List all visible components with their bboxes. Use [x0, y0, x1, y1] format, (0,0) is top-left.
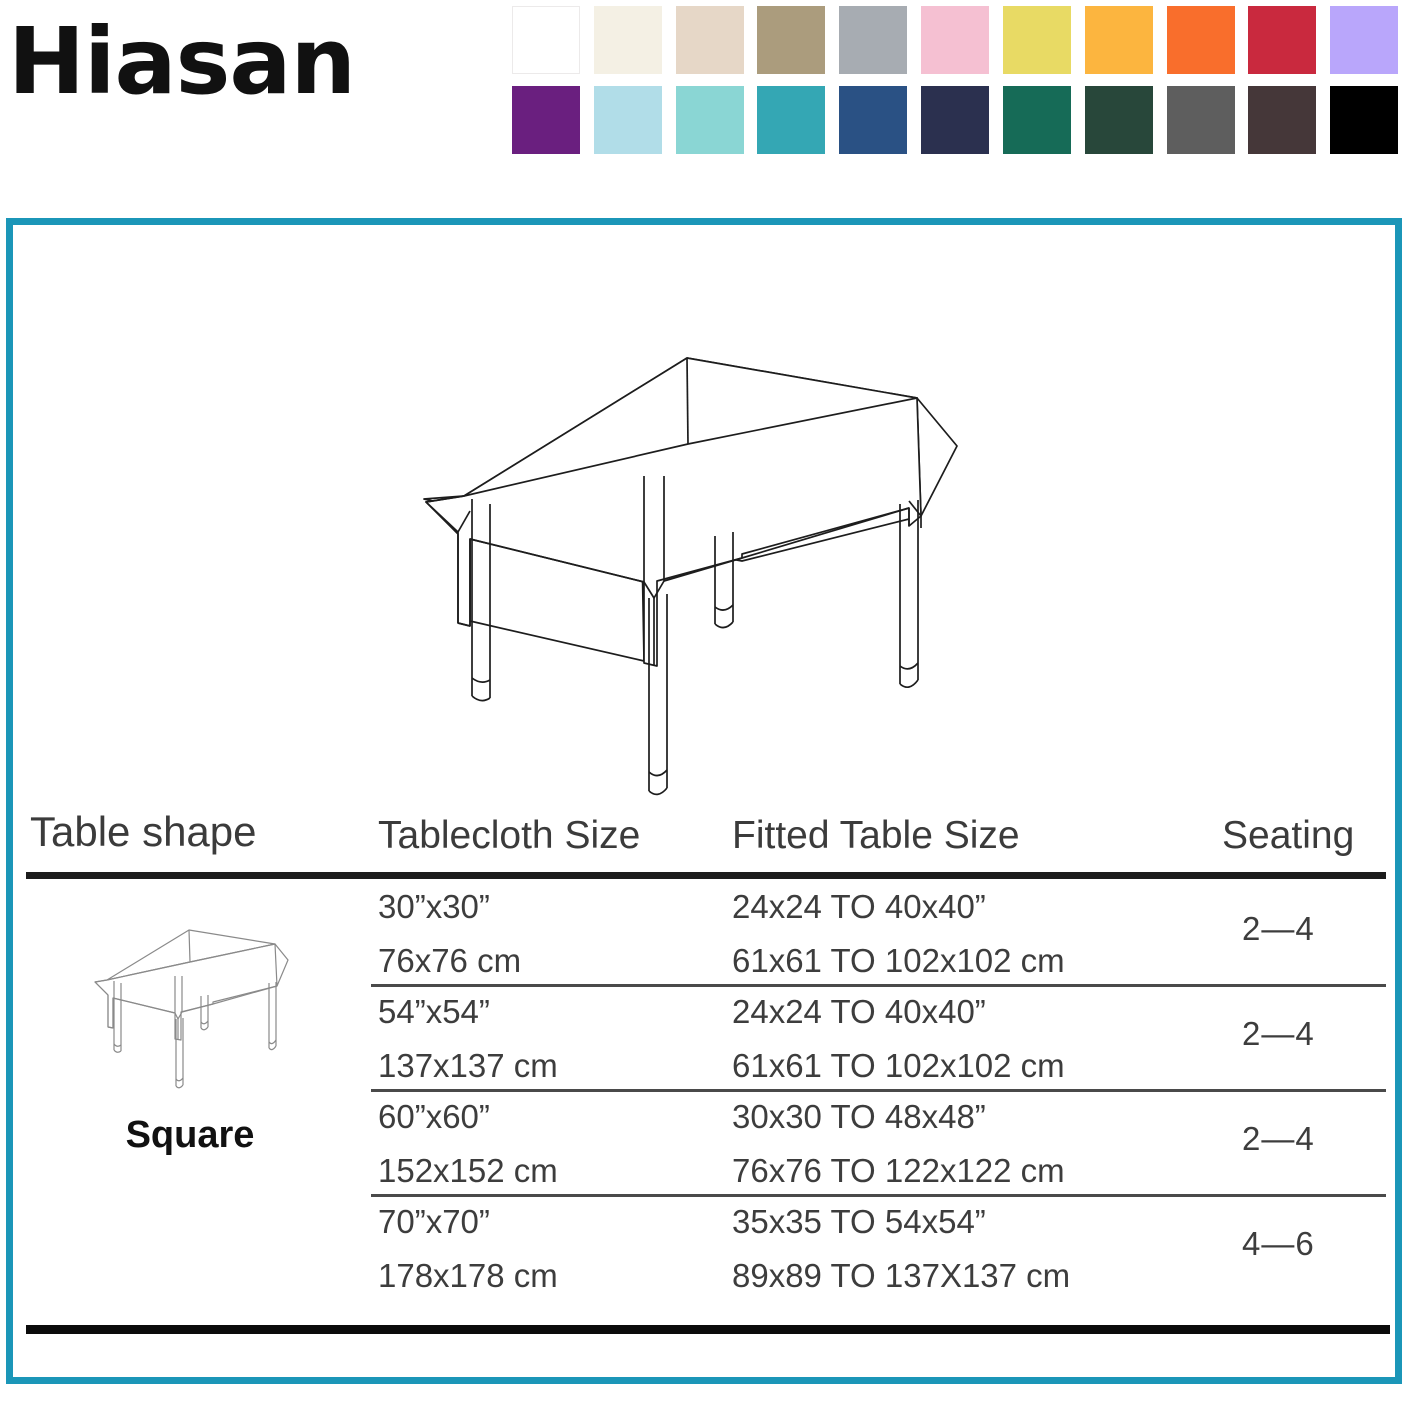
brand-logo: Hiasan — [8, 16, 355, 108]
swatch-cell[interactable] — [676, 6, 758, 86]
swatch-cell[interactable] — [921, 6, 1003, 86]
color-swatch-dark-brown[interactable] — [1248, 86, 1316, 154]
swatch-cell[interactable] — [1167, 6, 1249, 86]
swatch-cell[interactable] — [594, 6, 676, 86]
color-swatch-dark-gray[interactable] — [1167, 86, 1235, 154]
color-swatch-marigold[interactable] — [1085, 6, 1153, 74]
table-bottom-divider — [26, 1325, 1390, 1334]
swatch-cell[interactable] — [512, 86, 594, 166]
swatch-cell[interactable] — [676, 86, 758, 166]
table-row: 60”x60” 152x152 cm 30x30 TO 48x48” 76x76… — [26, 1092, 1390, 1197]
product-size-chart-page: Hiasan — [0, 0, 1416, 1402]
color-swatch-row-1 — [512, 6, 1412, 86]
swatch-cell[interactable] — [1330, 86, 1412, 166]
swatch-cell[interactable] — [1003, 6, 1085, 86]
swatch-cell[interactable] — [1248, 6, 1330, 86]
color-swatch-ivory[interactable] — [594, 6, 662, 74]
color-swatch-lavender[interactable] — [1330, 6, 1398, 74]
color-swatch-beige[interactable] — [676, 6, 744, 74]
column-header-tablecloth-size: Tablecloth Size — [378, 814, 640, 858]
color-swatch-taupe[interactable] — [757, 6, 825, 74]
swatch-cell[interactable] — [1085, 6, 1167, 86]
table-row: 70”x70” 178x178 cm 35x35 TO 54x54” 89x89… — [26, 1197, 1390, 1302]
color-swatch-white[interactable] — [512, 6, 580, 74]
color-swatch-teal[interactable] — [757, 86, 825, 154]
cell-fitted-cm: 76x76 TO 122x122 cm — [732, 1154, 1065, 1187]
swatch-cell[interactable] — [757, 86, 839, 166]
color-swatch-pink[interactable] — [921, 6, 989, 74]
cell-fitted-inches: 35x35 TO 54x54” — [732, 1205, 986, 1238]
color-swatch-aqua[interactable] — [676, 86, 744, 154]
color-swatch-yellow[interactable] — [1003, 6, 1071, 74]
cell-seating: 2—4 — [1242, 912, 1315, 945]
cell-seating: 4—6 — [1242, 1227, 1315, 1260]
swatch-cell[interactable] — [1167, 86, 1249, 166]
swatch-cell[interactable] — [1003, 86, 1085, 166]
cell-fitted-inches: 30x30 TO 48x48” — [732, 1100, 986, 1133]
color-swatch-gray[interactable] — [839, 6, 907, 74]
cell-tablecloth-cm: 137x137 cm — [378, 1049, 558, 1082]
column-header-fitted-table-size: Fitted Table Size — [732, 814, 1020, 858]
swatch-cell[interactable] — [594, 86, 676, 166]
swatch-cell[interactable] — [1330, 6, 1412, 86]
table-header-row: Table shape Tablecloth Size Fitted Table… — [26, 806, 1390, 868]
color-swatch-row-2 — [512, 86, 1412, 166]
swatch-cell[interactable] — [921, 86, 1003, 166]
cell-fitted-cm: 61x61 TO 102x102 cm — [732, 944, 1065, 977]
table-body: 30”x30” 76x76 cm 24x24 TO 40x40” 61x61 T… — [26, 882, 1390, 1302]
cell-tablecloth-inches: 30”x30” — [378, 890, 490, 923]
cell-fitted-inches: 24x24 TO 40x40” — [732, 995, 986, 1028]
cell-tablecloth-cm: 76x76 cm — [378, 944, 521, 977]
cell-tablecloth-inches: 70”x70” — [378, 1205, 490, 1238]
swatch-cell[interactable] — [512, 6, 594, 86]
header: Hiasan — [0, 0, 1416, 196]
color-swatch-navy[interactable] — [921, 86, 989, 154]
table-row: 30”x30” 76x76 cm 24x24 TO 40x40” 61x61 T… — [26, 882, 1390, 987]
swatch-cell[interactable] — [1085, 86, 1167, 166]
cell-tablecloth-cm: 152x152 cm — [378, 1154, 558, 1187]
header-divider — [26, 872, 1386, 879]
column-header-seating: Seating — [1222, 814, 1354, 858]
swatch-cell[interactable] — [1248, 86, 1330, 166]
cell-tablecloth-cm: 178x178 cm — [378, 1259, 558, 1292]
cell-fitted-cm: 89x89 TO 137X137 cm — [732, 1259, 1070, 1292]
cell-fitted-cm: 61x61 TO 102x102 cm — [732, 1049, 1065, 1082]
color-swatch-red[interactable] — [1248, 6, 1316, 74]
column-header-table-shape: Table shape — [30, 808, 257, 856]
cell-seating: 2—4 — [1242, 1017, 1315, 1050]
color-swatch-grid — [512, 6, 1412, 166]
color-swatch-forest-green[interactable] — [1085, 86, 1153, 154]
cell-tablecloth-inches: 60”x60” — [378, 1100, 490, 1133]
table-row: 54”x54” 137x137 cm 24x24 TO 40x40” 61x61… — [26, 987, 1390, 1092]
color-swatch-black[interactable] — [1330, 86, 1398, 154]
color-swatch-emerald[interactable] — [1003, 86, 1071, 154]
swatch-cell[interactable] — [757, 6, 839, 86]
size-chart-table: Table shape Tablecloth Size Fitted Table… — [26, 806, 1390, 1346]
swatch-cell[interactable] — [839, 86, 921, 166]
square-table-with-tablecloth-illustration — [412, 336, 972, 806]
color-swatch-purple[interactable] — [512, 86, 580, 154]
color-swatch-light-blue[interactable] — [594, 86, 662, 154]
cell-seating: 2—4 — [1242, 1122, 1315, 1155]
color-swatch-steel-blue[interactable] — [839, 86, 907, 154]
cell-fitted-inches: 24x24 TO 40x40” — [732, 890, 986, 923]
swatch-cell[interactable] — [839, 6, 921, 86]
color-swatch-orange[interactable] — [1167, 6, 1235, 74]
cell-tablecloth-inches: 54”x54” — [378, 995, 490, 1028]
